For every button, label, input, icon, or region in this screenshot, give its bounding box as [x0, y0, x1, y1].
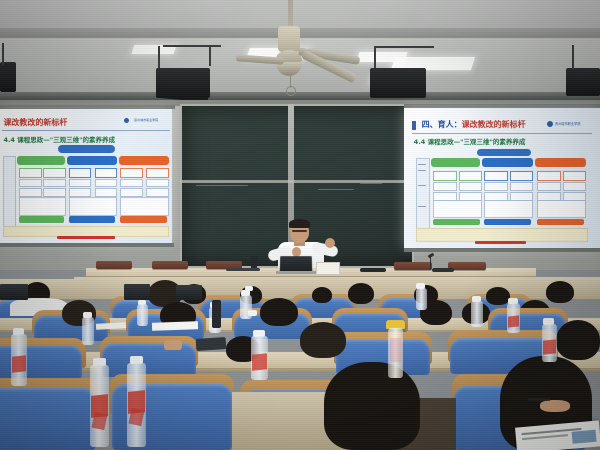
audience-head — [300, 322, 346, 358]
right-slide-title: 四、育人：课改教改的新标杆 — [422, 119, 526, 130]
right-slide-title-number: 四、 — [422, 120, 438, 129]
tumbler — [388, 328, 403, 378]
desk-microphone — [430, 256, 431, 270]
left-slide-col-blue — [67, 156, 117, 165]
right-slide-col-blue — [482, 158, 533, 167]
left-slide-sidecol — [3, 156, 15, 228]
lecture-hall-photo: 课改教改的新标杆 4.4 课程思政—"三观三维"的素养养成 贵州城市职业学院 — [0, 0, 600, 450]
fixture-arm — [2, 43, 4, 65]
audience-head — [260, 298, 298, 326]
water-bottle — [471, 301, 483, 327]
left-slide-title: 课改教改的新标杆 — [3, 117, 67, 128]
audience-head — [486, 287, 510, 305]
water-bottle — [137, 304, 148, 326]
fixture-arm — [163, 45, 221, 47]
presenter-laptop-screen[interactable] — [280, 256, 312, 272]
water-bottle — [416, 288, 427, 310]
audience-laptop[interactable] — [124, 284, 150, 300]
podium-object — [432, 268, 454, 272]
audience-laptop[interactable] — [0, 284, 28, 300]
water-bottle — [251, 336, 268, 380]
right-slide: 四、育人：课改教改的新标杆 4.4 课程思政—"三观三维"的素养养成 贵州城市职… — [404, 108, 600, 248]
water-bottle — [507, 303, 520, 333]
podium-object — [360, 268, 386, 272]
right-projection-screen: 四、育人：课改教改的新标杆 4.4 课程思政—"三观三维"的素养养成 贵州城市职… — [404, 108, 600, 248]
audience-seat[interactable] — [102, 343, 196, 377]
left-projection-screen: 课改教改的新标杆 4.4 课程思政—"三观三维"的素养养成 贵州城市职业学院 — [0, 109, 172, 243]
audience-paper — [152, 321, 198, 331]
right-slide-title-rest: 课改教改的新标杆 — [462, 120, 526, 129]
right-slide-subtitle: 4.4 课程思政—"三观三维"的素养养成 — [414, 136, 526, 146]
desk-nameplate — [96, 261, 132, 269]
water-bottle — [11, 334, 27, 386]
left-slide-logo-text: 贵州城市职业学院 — [134, 118, 158, 122]
right-slide-pill — [477, 149, 532, 157]
desk-nameplate — [152, 261, 188, 269]
desk-nameplate — [394, 262, 432, 270]
fixture-arm — [374, 46, 434, 48]
left-slide-pill — [58, 145, 115, 153]
left-slide-col-orange — [119, 156, 169, 165]
audience-head — [348, 283, 374, 304]
bottle-cap — [248, 310, 257, 316]
fixture-arm — [572, 45, 574, 69]
podium-object — [226, 268, 260, 271]
audience-face — [540, 400, 570, 412]
audience-laptop[interactable] — [176, 285, 202, 300]
water-bottle — [90, 365, 109, 447]
audience-head — [324, 362, 420, 450]
left-slide-col-green — [17, 156, 65, 165]
right-slide-title-main: 育人： — [438, 120, 462, 129]
bottle-cap — [416, 283, 425, 289]
school-logo-icon — [547, 121, 553, 127]
audience-head — [556, 320, 600, 360]
ceiling-fan-rod — [288, 0, 293, 28]
presenter-placard — [316, 262, 340, 275]
ceiling-fixture — [156, 68, 210, 98]
bottle-cap — [245, 286, 253, 291]
fixture-arm — [374, 46, 376, 70]
audience-head — [546, 281, 574, 303]
water-bottle — [82, 317, 94, 345]
fixture-arm — [209, 46, 211, 66]
chalk-mark — [318, 189, 354, 190]
presenter-hand-right — [325, 238, 335, 248]
ceiling-fan-pullring — [286, 86, 296, 96]
chalk-mark — [360, 183, 382, 184]
audience-glasses — [528, 398, 550, 401]
thermos-bottle — [212, 300, 221, 328]
presenter-laptop-base[interactable] — [276, 271, 316, 274]
ceiling-fixture — [0, 62, 16, 92]
water-bottle — [542, 324, 557, 362]
ceiling-fixture — [566, 68, 600, 96]
left-slide-subtitle: 4.4 课程思政—"三观三维"的素养养成 — [3, 134, 115, 144]
audience-hand — [164, 340, 182, 350]
right-slide-logo-text: 贵州城市职业学院 — [555, 121, 581, 126]
audience-head — [312, 287, 332, 303]
left-slide: 课改教改的新标杆 4.4 课程思政—"三观三维"的素养养成 贵州城市职业学院 — [0, 109, 172, 243]
presenter-glasses — [292, 230, 307, 232]
school-logo-icon — [124, 118, 129, 123]
screen-bottom-frame — [0, 243, 174, 247]
audience-tablet[interactable] — [196, 337, 227, 351]
chalk-mark — [196, 185, 248, 186]
right-slide-col-orange — [535, 158, 586, 167]
audience-seat[interactable] — [0, 388, 96, 450]
screen-bottom-frame — [404, 248, 600, 252]
water-bottle — [127, 363, 146, 447]
presenter-hair — [289, 219, 310, 228]
ceiling-fixture — [370, 68, 426, 98]
ceiling-fan-motor — [278, 26, 300, 52]
right-slide-col-green — [431, 158, 480, 167]
